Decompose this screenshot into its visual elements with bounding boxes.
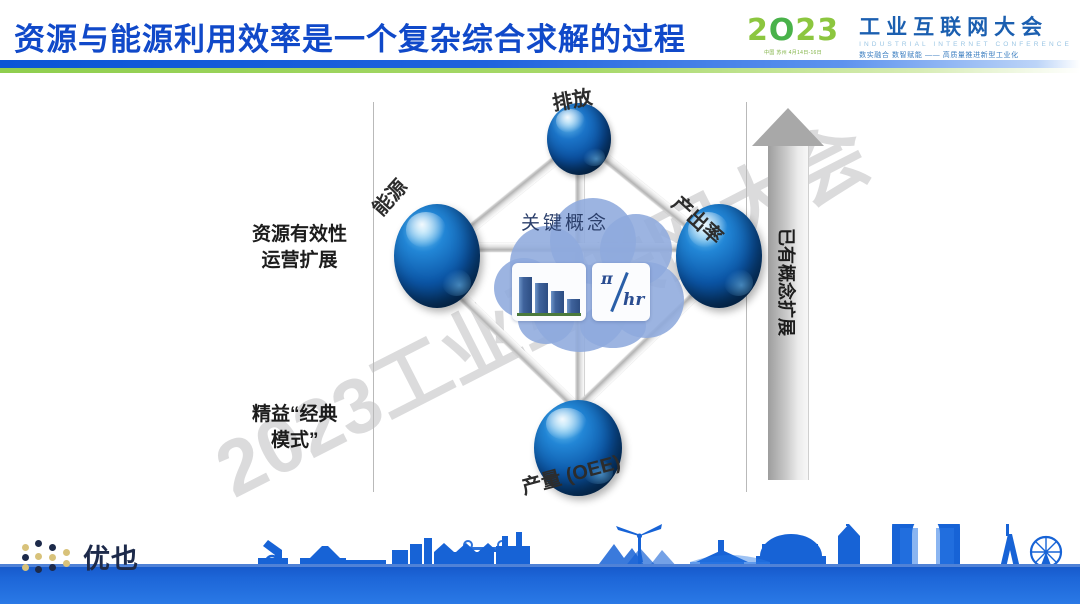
brand-dot (35, 566, 42, 573)
expansion-arrow-head (752, 108, 824, 146)
pi-numerator: π (601, 269, 613, 288)
brand-dot (49, 544, 56, 551)
conference-year-o: O (769, 13, 796, 48)
brand-dot (22, 554, 29, 561)
conference-year: 2O23 (747, 16, 839, 46)
expansion-arrow-label: 已有概念扩展 (774, 228, 800, 336)
page-title: 资源与能源利用效率是一个复杂综合求解的过程 (14, 14, 686, 59)
footer-sea-band (0, 564, 1080, 604)
conference-name-block: 工业互联网大会 INDUSTRIAL INTERNET CONFERENCE 数… (859, 16, 1072, 60)
brand-dot (35, 553, 42, 560)
conference-name-en: INDUSTRIAL INTERNET CONFERENCE (859, 41, 1072, 48)
conference-year-prefix: 2 (747, 13, 769, 48)
conference-logo: 2O23 中国 苏州 4月14日-16日 工业互联网大会 INDUSTRIAL … (747, 16, 1072, 74)
conference-tagline: 数实融合 数智赋能 —— 高质量推进新型工业化 (859, 50, 1072, 60)
bar-chart-bar (519, 277, 532, 313)
pi-per-hour-icon: π hr (592, 263, 650, 321)
bar-chart-bar (567, 299, 580, 313)
brand-name: 优也 (83, 537, 139, 576)
hr-denominator: hr (623, 290, 644, 310)
brand-dot (35, 540, 42, 547)
label-resource-effectiveness-line1: 资源有效性 (252, 222, 347, 248)
skyline-illustration (0, 524, 1080, 568)
slide-root: 资源与能源利用效率是一个复杂综合求解的过程 2O23 中国 苏州 4月14日-1… (0, 0, 1080, 604)
bar-chart-bar (551, 291, 564, 313)
conference-date: 中国 苏州 4月14日-16日 (747, 49, 839, 56)
brand-dot (22, 564, 29, 571)
node-energy[interactable] (394, 204, 480, 308)
node-label-energy: 能源 (364, 172, 412, 221)
bar-chart-bar (535, 283, 548, 313)
label-lean-classic-mode-line2: 模式” (252, 428, 338, 454)
slide-footer: 优也 (0, 524, 1080, 604)
conference-name-cn: 工业互联网大会 (859, 16, 1072, 39)
brand-dot (22, 544, 29, 551)
guide-line-right (746, 102, 747, 492)
slide-header: 资源与能源利用效率是一个复杂综合求解的过程 2O23 中国 苏州 4月14日-1… (0, 0, 1080, 78)
network-dots-icon (22, 540, 74, 574)
brand-dot (63, 560, 70, 567)
conference-year-block: 2O23 中国 苏州 4月14日-16日 (747, 16, 849, 56)
cloud-title: 关键概念 (521, 208, 609, 235)
bar-chart-baseline (517, 313, 581, 316)
brand-logo: 优也 (22, 537, 139, 576)
brand-dot (49, 564, 56, 571)
label-lean-classic-mode-line1: 精益“经典 (252, 402, 338, 428)
brand-dot (49, 554, 56, 561)
conference-year-suffix: 23 (795, 13, 839, 48)
label-resource-effectiveness: 资源有效性 运营扩展 (252, 222, 347, 274)
guide-line-left (373, 102, 374, 492)
bar-chart-icon (512, 263, 586, 321)
label-resource-effectiveness-line2: 运营扩展 (252, 248, 347, 274)
brand-dot (63, 549, 70, 556)
concept-diagram: 关键概念 π hr 排放 能源 产出率 产量 (OEE) 资源有效性 运营扩展 (0, 80, 1080, 520)
label-lean-classic-mode: 精益“经典 模式” (252, 402, 338, 454)
